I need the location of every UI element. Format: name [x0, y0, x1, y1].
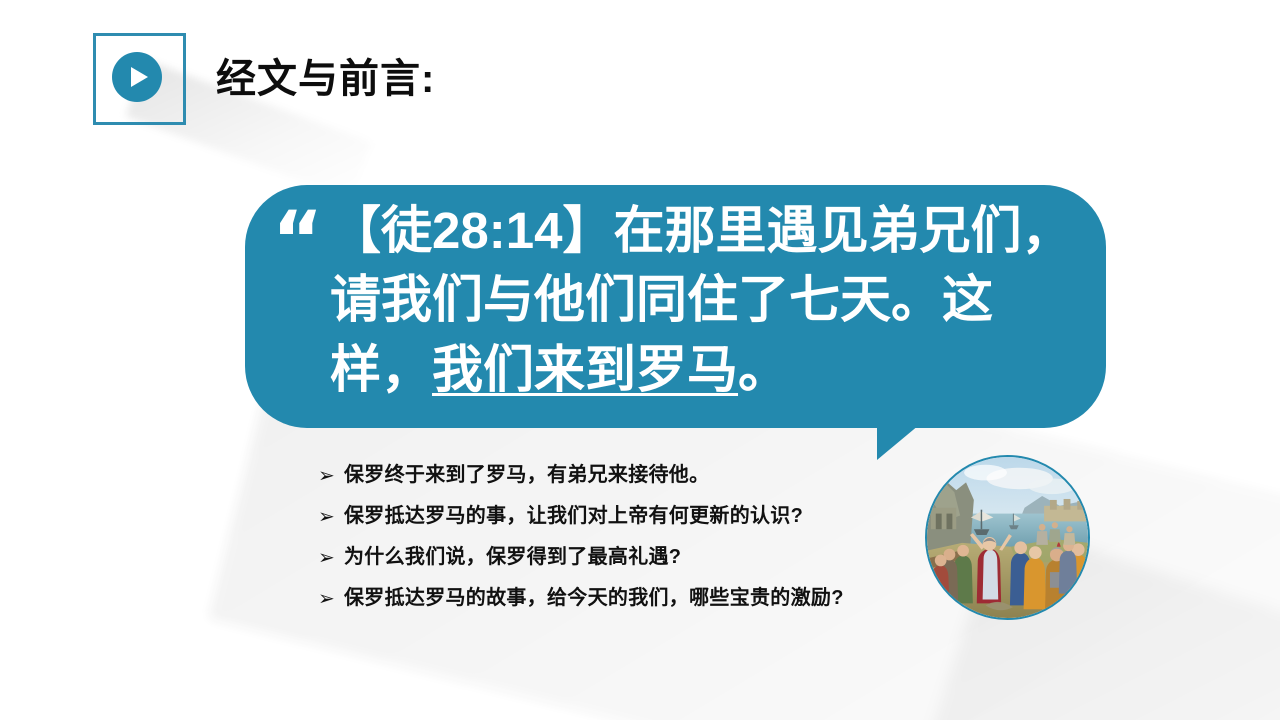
quote-line-3-post: 。	[738, 341, 789, 398]
play-button-icon[interactable]	[112, 52, 162, 102]
page-title: 经文与前言:	[216, 46, 435, 104]
list-item-label: 保罗抵达罗马的事，让我们对上帝有何更新的认识?	[344, 503, 918, 530]
quote-bubble-tail	[877, 420, 925, 460]
arrow-bullet-icon: ➢	[318, 544, 344, 571]
header-icon-group	[93, 33, 186, 125]
paul-arriving-at-rome-painting	[925, 455, 1090, 620]
list-item: ➢ 保罗终于来到了罗马，有弟兄来接待他。	[318, 462, 918, 489]
quote-line-3-underlined: 我们来到罗马	[432, 341, 738, 398]
list-item: ➢ 保罗抵达罗马的事，让我们对上帝有何更新的认识?	[318, 503, 918, 530]
list-item-label: 保罗抵达罗马的故事，给今天的我们，哪些宝贵的激励?	[344, 585, 918, 612]
quote-text: 【徒28:14】在那里遇见弟兄们，请我们与他们同住了七天。这样，我们来到罗马。	[330, 196, 1090, 404]
quote-line-1: 【徒28:14】在那里遇见弟兄们，	[330, 202, 1072, 259]
quote-line-2: 请我们与他们同住了七天。这	[330, 271, 993, 328]
play-triangle-icon	[131, 67, 148, 87]
slide-canvas: 经文与前言: “ 【徒28:14】在那里遇见弟兄们，请我们与他们同住了七天。这样…	[0, 0, 1280, 720]
bullet-list: ➢ 保罗终于来到了罗马，有弟兄来接待他。 ➢ 保罗抵达罗马的事，让我们对上帝有何…	[318, 462, 918, 626]
arrow-bullet-icon: ➢	[318, 503, 344, 530]
list-item-label: 为什么我们说，保罗得到了最高礼遇?	[344, 544, 918, 571]
quote-line-3-pre: 样，	[330, 341, 432, 398]
list-item: ➢ 保罗抵达罗马的故事，给今天的我们，哪些宝贵的激励?	[318, 585, 918, 612]
list-item-label: 保罗终于来到了罗马，有弟兄来接待他。	[344, 462, 918, 489]
list-item: ➢ 为什么我们说，保罗得到了最高礼遇?	[318, 544, 918, 571]
arrow-bullet-icon: ➢	[318, 462, 344, 489]
arrow-bullet-icon: ➢	[318, 585, 344, 612]
quote-mark-icon: “	[272, 202, 326, 280]
